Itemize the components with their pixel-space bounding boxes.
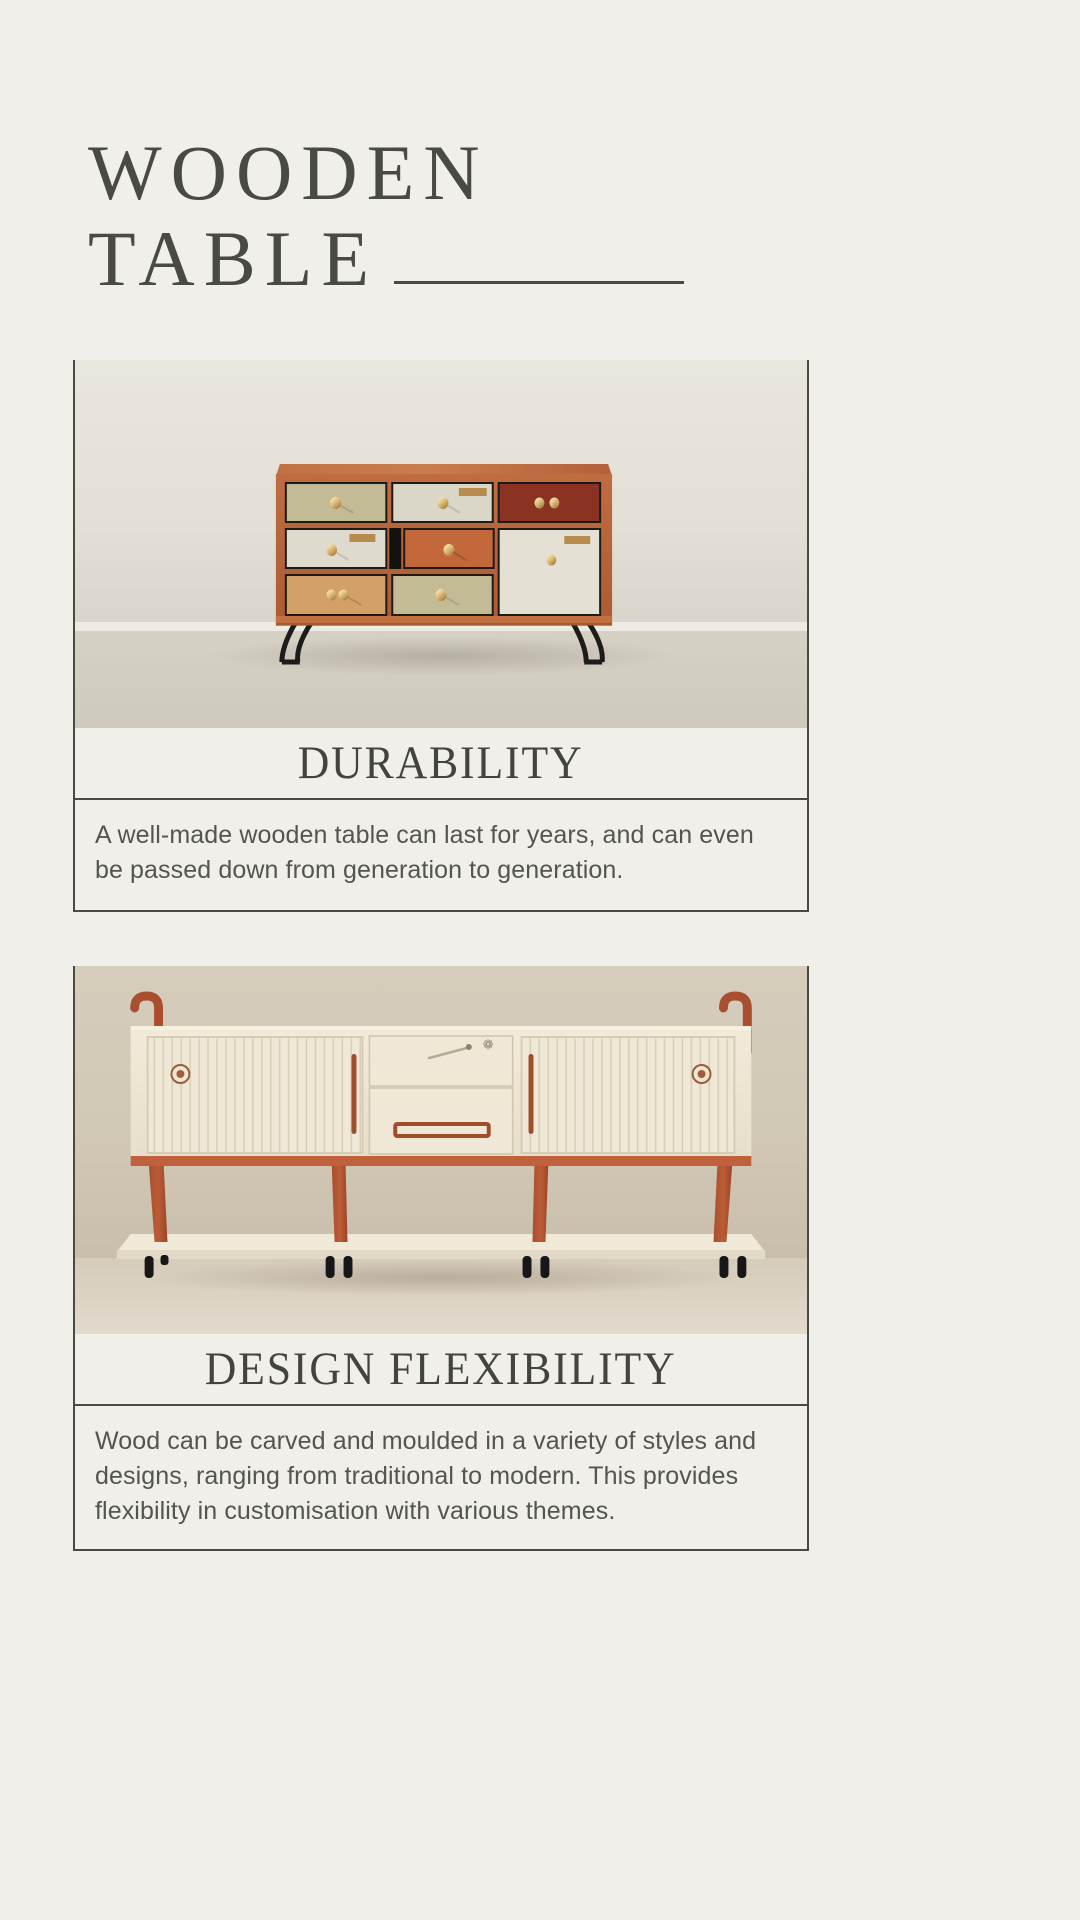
card-heading-text: DESIGN FLEXIBILITY — [205, 1344, 677, 1394]
svg-text:❁: ❁ — [483, 1037, 494, 1052]
title-line-2: TABLE — [88, 216, 378, 302]
card-heading-durability: DURABILITY — [73, 728, 809, 800]
card-heading-text: DURABILITY — [298, 738, 584, 788]
feature-card-design-flexibility: ❁ DESIGN FLEXIBILITY Wood can be carved … — [73, 966, 809, 1551]
card-heading-design-flexibility: DESIGN FLEXIBILITY — [73, 1334, 809, 1406]
title-underline-rule — [394, 281, 684, 284]
card-body-durability: A well-made wooden table can last for ye… — [73, 800, 809, 912]
feature-card-durability: DURABILITY A well-made wooden table can … — [73, 360, 809, 912]
card-body-text: Wood can be carved and moulded in a vari… — [95, 1424, 787, 1529]
cabinet-illustration — [75, 360, 807, 728]
sideboard-illustration: ❁ — [75, 966, 807, 1334]
title-line-1: WOODEN — [88, 130, 998, 216]
card-body-design-flexibility: Wood can be carved and moulded in a vari… — [73, 1406, 809, 1551]
title-line-2-row: TABLE — [88, 216, 998, 302]
card-body-text: A well-made wooden table can last for ye… — [95, 818, 787, 888]
page-title: WOODEN TABLE — [88, 130, 998, 302]
sideboard-photo: ❁ — [73, 966, 809, 1334]
cabinet-photo — [73, 360, 809, 728]
